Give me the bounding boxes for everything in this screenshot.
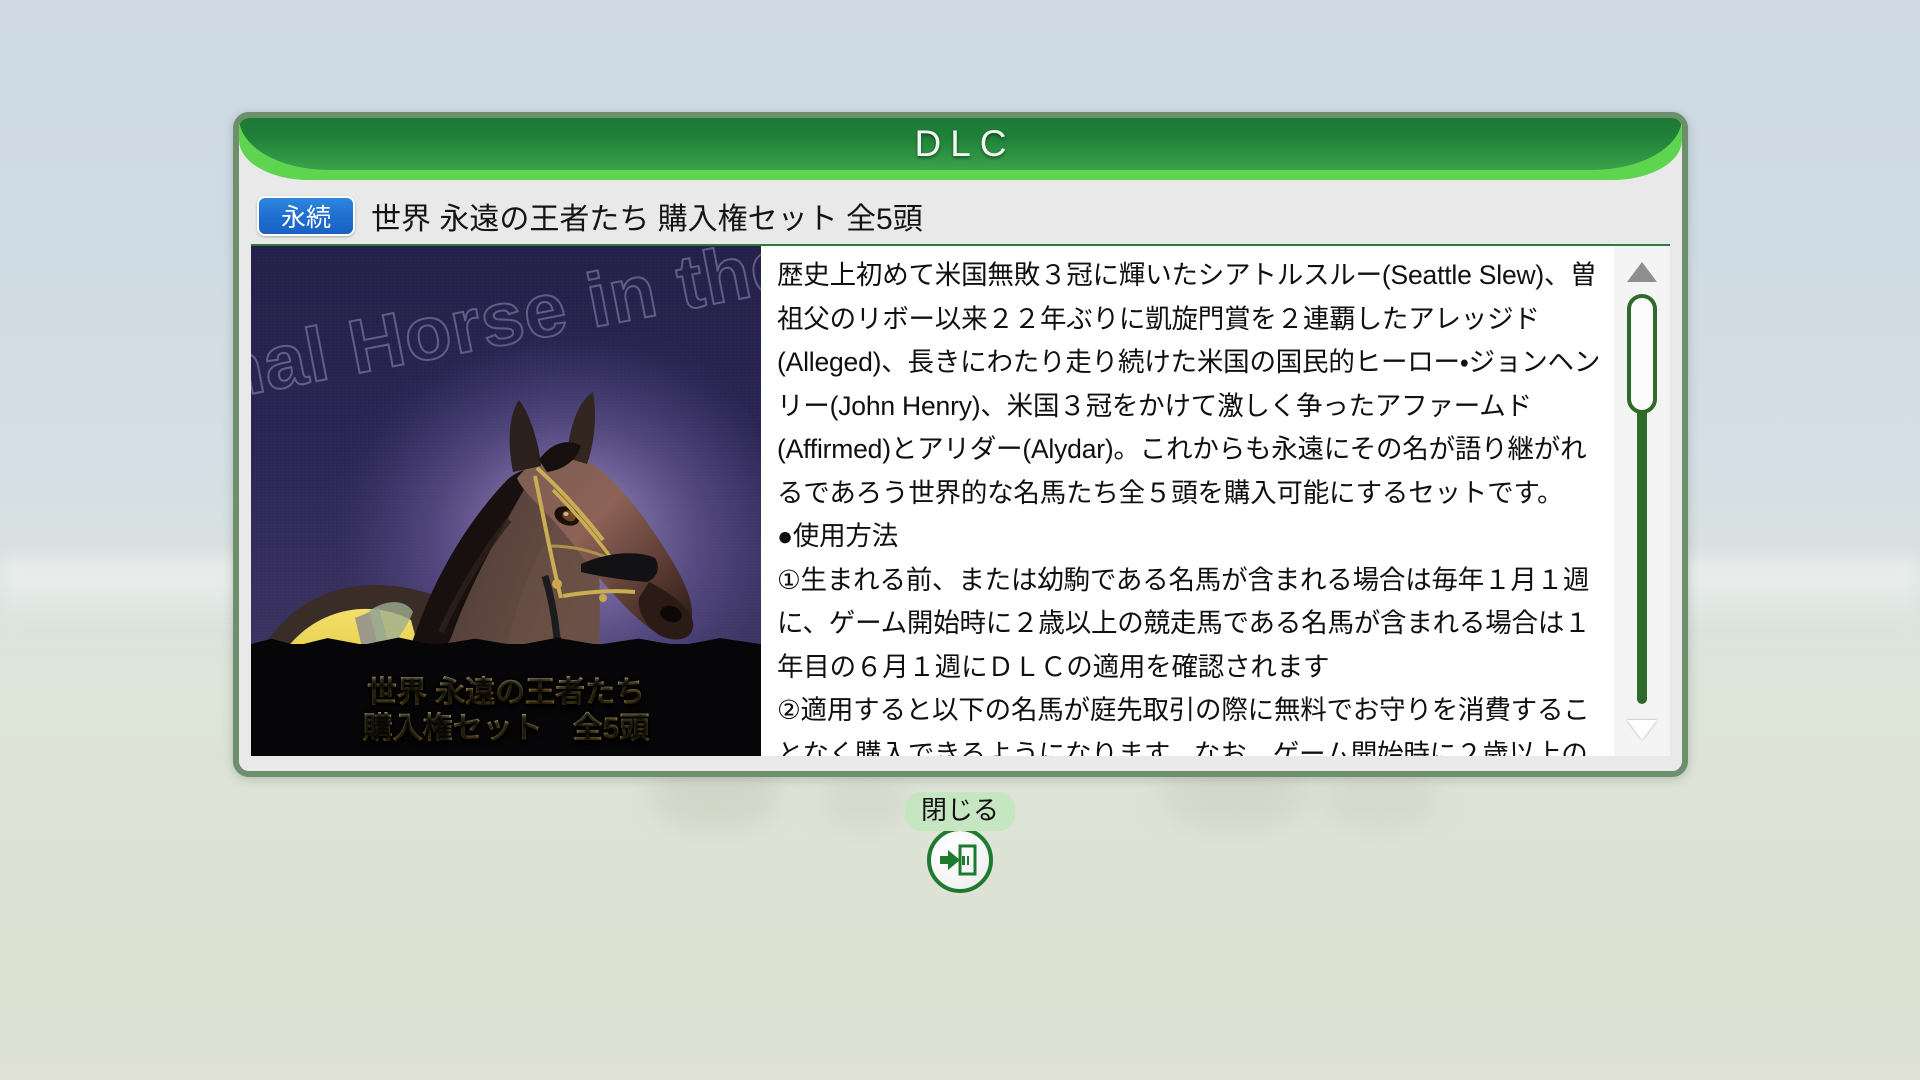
dlc-dialog-panel: DLC 永続 世界 永遠の王者たち 購入権セット 全5頭 rnal Horse …	[233, 112, 1688, 777]
artwork-caption-line1: 世界 永遠の王者たち	[251, 675, 761, 712]
close-button-icon-circle[interactable]	[927, 827, 993, 893]
description-paragraph: ●使用方法	[777, 515, 1608, 559]
scroll-up-arrow-icon[interactable]	[1627, 262, 1657, 282]
dlc-artwork: rnal Horse in the Wo	[251, 246, 761, 756]
artwork-caption-line2: 購入権セット 全5頭	[251, 711, 761, 748]
scroll-down-arrow-icon[interactable]	[1627, 720, 1657, 740]
description-paragraph: 歴史上初めて米国無敗３冠に輝いたシアトルスルー(Seattle Slew)、曽祖…	[777, 254, 1608, 515]
dlc-content-area: rnal Horse in the Wo	[251, 244, 1670, 756]
description-paragraph: ②適用すると以下の名馬が庭先取引の際に無料でお守りを消費することなく購入できるよ…	[777, 689, 1608, 756]
dialog-header: DLC	[239, 118, 1682, 186]
screen: DLC 永続 世界 永遠の王者たち 購入権セット 全5頭 rnal Horse …	[0, 0, 1920, 1080]
description-scrollbar[interactable]	[1614, 246, 1670, 756]
scrollbar-thumb[interactable]	[1627, 294, 1657, 414]
description-text: 歴史上初めて米国無敗３冠に輝いたシアトルスルー(Seattle Slew)、曽祖…	[761, 246, 1614, 756]
header-bar: DLC	[239, 118, 1682, 170]
item-header-row: 永続 世界 永遠の王者たち 購入権セット 全5頭	[239, 186, 1682, 242]
close-button[interactable]: 閉じる	[890, 792, 1030, 893]
description-pane: 歴史上初めて米国無敗３冠に輝いたシアトルスルー(Seattle Slew)、曽祖…	[761, 246, 1670, 756]
artwork-caption: 世界 永遠の王者たち 購入権セット 全5頭	[251, 675, 761, 748]
page-title: DLC	[905, 123, 1015, 165]
item-title: 世界 永遠の王者たち 購入権セット 全5頭	[371, 194, 923, 238]
background-horse-silhouette	[1320, 770, 1440, 830]
description-paragraph: ①生まれる前、または幼駒である名馬が含まれる場合は毎年１月１週に、ゲーム開始時に…	[777, 559, 1608, 690]
status-badge: 永続	[257, 196, 355, 236]
close-button-label: 閉じる	[905, 792, 1015, 831]
exit-back-arrow-icon	[938, 838, 982, 882]
